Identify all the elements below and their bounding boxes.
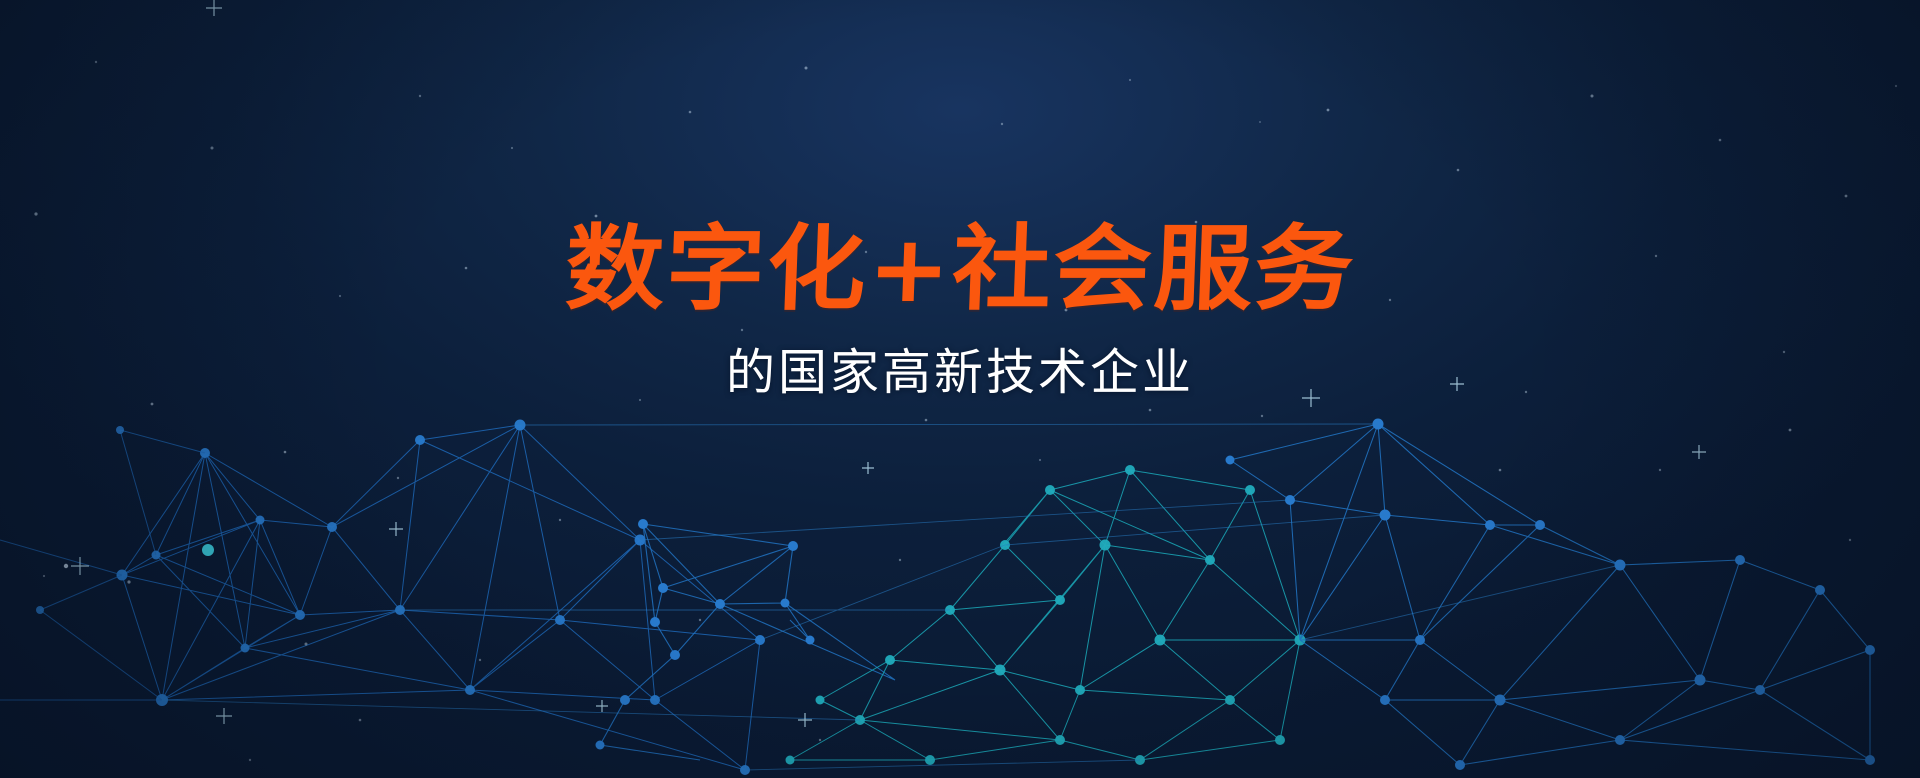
background-vignette: [0, 0, 1920, 778]
hero-banner: 数字化+社会服务 的国家高新技术企业: [0, 0, 1920, 778]
